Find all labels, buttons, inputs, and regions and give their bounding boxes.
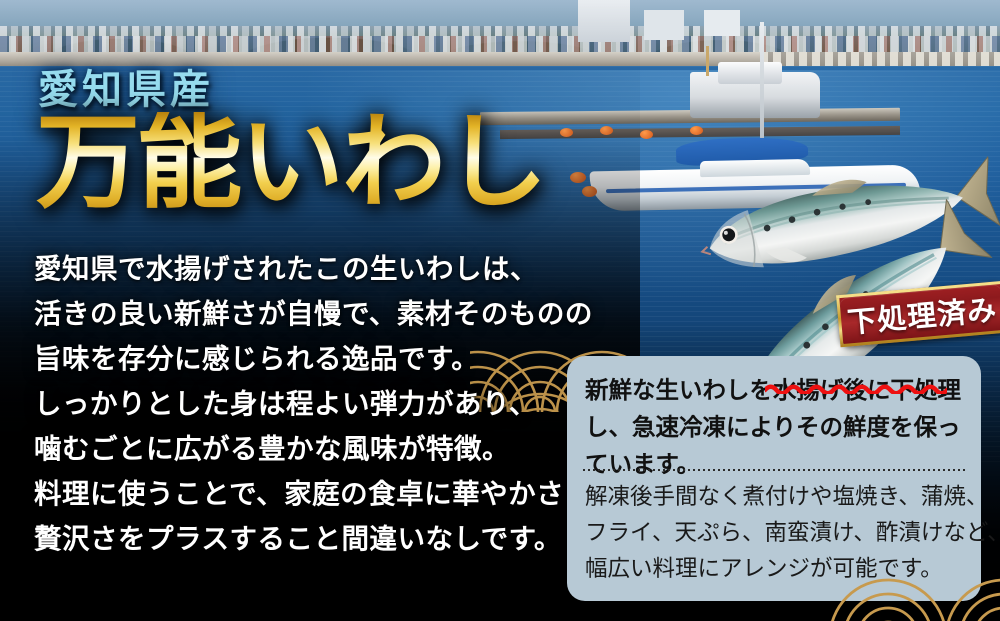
- fishing-boat-cabin: [718, 62, 782, 84]
- description-line: 料理に使うことで、家庭の食卓に華やかさと: [34, 471, 554, 516]
- product-title: 万能いわし: [36, 112, 546, 216]
- description-line: 愛知県で水揚げされたこの生いわしは、: [34, 246, 554, 291]
- panel-headline-line: 新鮮な生いわしを水揚げ後に下処理: [585, 372, 965, 409]
- panel-body: 解凍後手間なく煮付けや塩焼き、蒲焼、 フライ、天ぷら、南蛮漬け、酢漬けなど、 幅…: [585, 479, 981, 587]
- panel-headline: 新鮮な生いわしを水揚げ後に下処理 し、急速冷凍によりその鮮度を保っ ています。: [585, 372, 965, 483]
- panel-divider: [583, 469, 965, 471]
- panel-body-line: フライ、天ぷら、南蛮漬け、酢漬けなど、: [585, 515, 981, 551]
- fishing-boat-mast: [706, 46, 709, 76]
- buoy: [690, 126, 703, 135]
- description-paragraph: 愛知県で水揚げされたこの生いわしは、 活きの良い新鮮さが自慢で、素材そのものの …: [34, 246, 554, 561]
- panel-body-line: 解凍後手間なく煮付けや塩焼き、蒲焼、: [585, 479, 981, 515]
- description-line: しっかりとした身は程よい弾力があり、: [34, 381, 554, 426]
- sailboat-mast: [760, 22, 764, 148]
- buoy: [640, 130, 653, 139]
- description-line: 噛むごとに広がる豊かな風味が特徴。: [34, 426, 554, 471]
- description-line: 贅沢さをプラスすること間違いなしです。: [34, 516, 554, 561]
- advertisement-banner: 愛知県産 万能いわし 愛知県で水揚げされたこの生いわしは、 活きの良い新鮮さが自…: [0, 0, 1000, 621]
- description-line: 旨味を存分に感じられる逸品です。: [34, 336, 554, 381]
- description-line: 活きの良い新鮮さが自慢で、素材そのものの: [34, 291, 554, 336]
- panel-headline-line: し、急速冷凍によりその鮮度を保っ: [585, 409, 965, 446]
- panel-body-line: 幅広い料理にアレンジが可能です。: [585, 551, 981, 587]
- panel-headline-line: ています。: [585, 446, 965, 483]
